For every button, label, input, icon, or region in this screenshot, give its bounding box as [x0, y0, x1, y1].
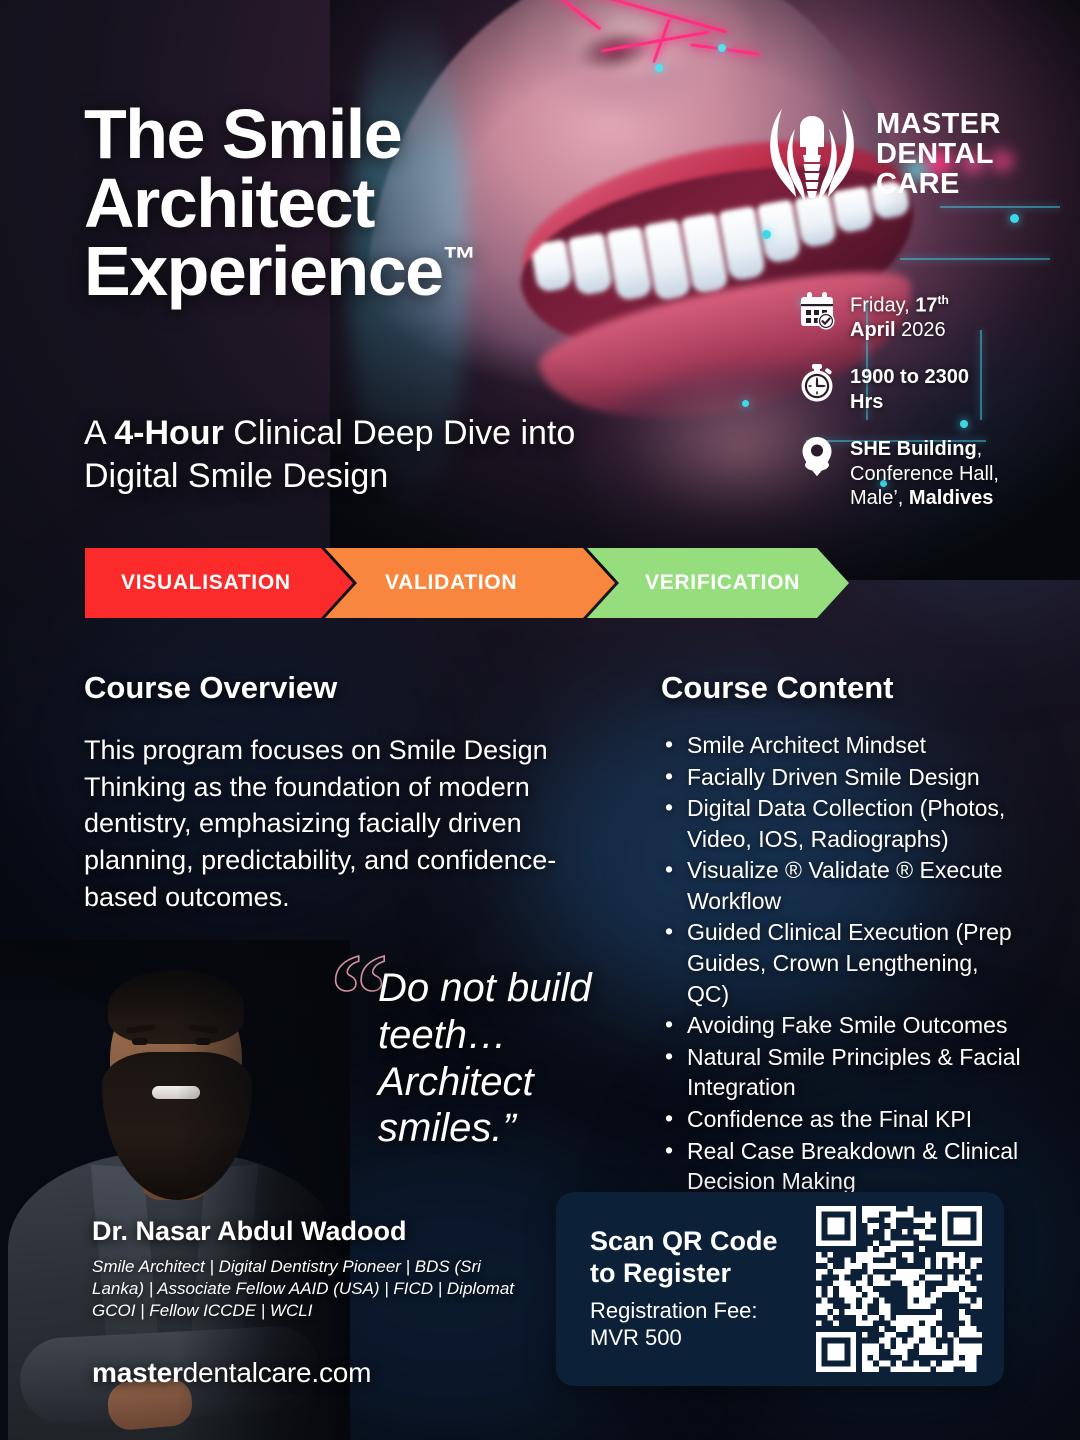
- title-line-1: The Smile: [84, 100, 644, 169]
- poster-subtitle: A 4-Hour Clinical Deep Dive into Digital…: [84, 412, 604, 498]
- event-date-text: Friday, 17th April 2026: [850, 292, 949, 342]
- poster-canvas: The Smile Architect Experience™ A 4-Hour…: [0, 0, 1080, 1440]
- registration-title: Scan QR Code to Register: [590, 1226, 802, 1290]
- time-unit: Hrs: [850, 391, 883, 413]
- date-ordinal: th: [937, 293, 948, 307]
- brand-logo: MASTER DENTAL CARE: [762, 100, 1052, 210]
- registration-panel[interactable]: Scan QR Code to Register Registration Fe…: [556, 1192, 1004, 1386]
- event-time-text: 1900 to 2300 Hrs: [850, 364, 969, 414]
- course-content-item: Real Case Breakdown & Clinical Decision …: [661, 1136, 1021, 1197]
- registration-fee: Registration Fee: MVR 500: [590, 1298, 802, 1352]
- speaker-credentials: Smile Architect | Digital Dentistry Pion…: [92, 1256, 522, 1322]
- subtitle-duration: 4-Hour: [114, 414, 224, 452]
- course-content-item: Smile Architect Mindset: [661, 730, 1021, 761]
- venue-city: Male’,: [850, 487, 909, 509]
- calendar-check-icon: [798, 292, 836, 332]
- course-content-item: Avoiding Fake Smile Outcomes: [661, 1010, 1021, 1041]
- course-content-item: Digital Data Collection (Photos, Video, …: [661, 793, 1021, 854]
- course-content-item: Visualize ® Validate ® Execute Workflow: [661, 855, 1021, 916]
- speaker-info: Dr. Nasar Abdul Wadood Smile Architect |…: [92, 1216, 522, 1322]
- event-time-row: 1900 to 2300 Hrs: [798, 364, 1058, 414]
- registration-title-line-1: Scan QR Code: [590, 1226, 802, 1258]
- process-step-verification: VERIFICATION: [587, 548, 849, 618]
- course-content-item: Natural Smile Principles & Facial Integr…: [661, 1042, 1021, 1103]
- title-line-2: Architect: [84, 169, 644, 238]
- process-step-validation: VALIDATION: [325, 548, 615, 618]
- registration-copy: Scan QR Code to Register Registration Fe…: [590, 1226, 802, 1351]
- qr-code-image[interactable]: [816, 1206, 982, 1372]
- website-url[interactable]: masterdentalcare.com: [92, 1357, 371, 1389]
- registration-fee-value: MVR 500: [590, 1325, 802, 1352]
- process-banner: VISUALISATION VALIDATION VERIFICATION: [85, 548, 849, 618]
- tech-node: [742, 400, 749, 407]
- speaker-name: Dr. Nasar Abdul Wadood: [92, 1216, 522, 1247]
- poster-title: The Smile Architect Experience™: [84, 100, 644, 306]
- subtitle-prefix: A: [84, 414, 114, 452]
- website-domain: dentalcare.com: [183, 1357, 372, 1388]
- date-day-name: Friday,: [850, 295, 915, 317]
- logo-line-master: MASTER: [876, 110, 1001, 140]
- location-pin-icon: [798, 436, 836, 476]
- stopwatch-icon: [798, 364, 836, 404]
- process-step-label: VALIDATION: [385, 571, 517, 595]
- logo-line-care: CARE: [876, 170, 1001, 200]
- tech-node: [762, 230, 771, 239]
- course-overview-heading: Course Overview: [84, 670, 614, 706]
- process-step-visualisation: VISUALISATION: [85, 548, 353, 618]
- registration-title-line-2: to Register: [590, 1258, 802, 1290]
- process-step-label: VERIFICATION: [645, 571, 800, 595]
- trademark-symbol: ™: [443, 241, 477, 279]
- website-brand: master: [92, 1357, 183, 1388]
- course-content-item: Confidence as the Final KPI: [661, 1104, 1021, 1135]
- venue-country: Maldives: [909, 487, 993, 509]
- course-content-item: Guided Clinical Execution (Prep Guides, …: [661, 917, 1021, 1009]
- course-content-list: Smile Architect MindsetFacially Driven S…: [661, 730, 1021, 1197]
- pull-quote: “ Do not build teeth… Architect smiles.”: [378, 965, 628, 1152]
- neon-node: [655, 64, 663, 72]
- venue-hall: Conference Hall,: [850, 463, 999, 485]
- tech-line: [900, 258, 1050, 260]
- date-day-number: 17: [915, 295, 937, 317]
- course-overview-section: Course Overview This program focuses on …: [84, 670, 614, 916]
- event-venue-row: SHE Building, Conference Hall, Male’, Ma…: [798, 436, 1058, 510]
- event-venue-text: SHE Building, Conference Hall, Male’, Ma…: [850, 436, 999, 510]
- title-line-3: Experience™: [84, 237, 644, 306]
- time-range: 1900 to 2300: [850, 366, 969, 388]
- neon-node: [718, 44, 726, 52]
- course-overview-body: This program focuses on Smile Design Thi…: [84, 732, 614, 916]
- date-month: April: [850, 319, 896, 341]
- course-content-section: Course Content Smile Architect MindsetFa…: [661, 670, 1021, 1198]
- quote-text: Do not build teeth… Architect smiles.”: [378, 965, 628, 1152]
- event-details: Friday, 17th April 2026: [798, 292, 1058, 510]
- logo-wordmark: MASTER DENTAL CARE: [876, 110, 1001, 200]
- logo-line-dental: DENTAL: [876, 140, 1001, 170]
- registration-fee-label: Registration Fee:: [590, 1298, 802, 1325]
- tech-node: [1010, 214, 1019, 223]
- venue-building: SHE Building: [850, 438, 977, 460]
- date-year: 2026: [896, 319, 946, 341]
- process-step-label: VISUALISATION: [121, 571, 291, 595]
- course-content-heading: Course Content: [661, 670, 1021, 706]
- course-content-item: Facially Driven Smile Design: [661, 762, 1021, 793]
- event-date-row: Friday, 17th April 2026: [798, 292, 1058, 342]
- tooth-implant-logo-icon: [762, 103, 862, 207]
